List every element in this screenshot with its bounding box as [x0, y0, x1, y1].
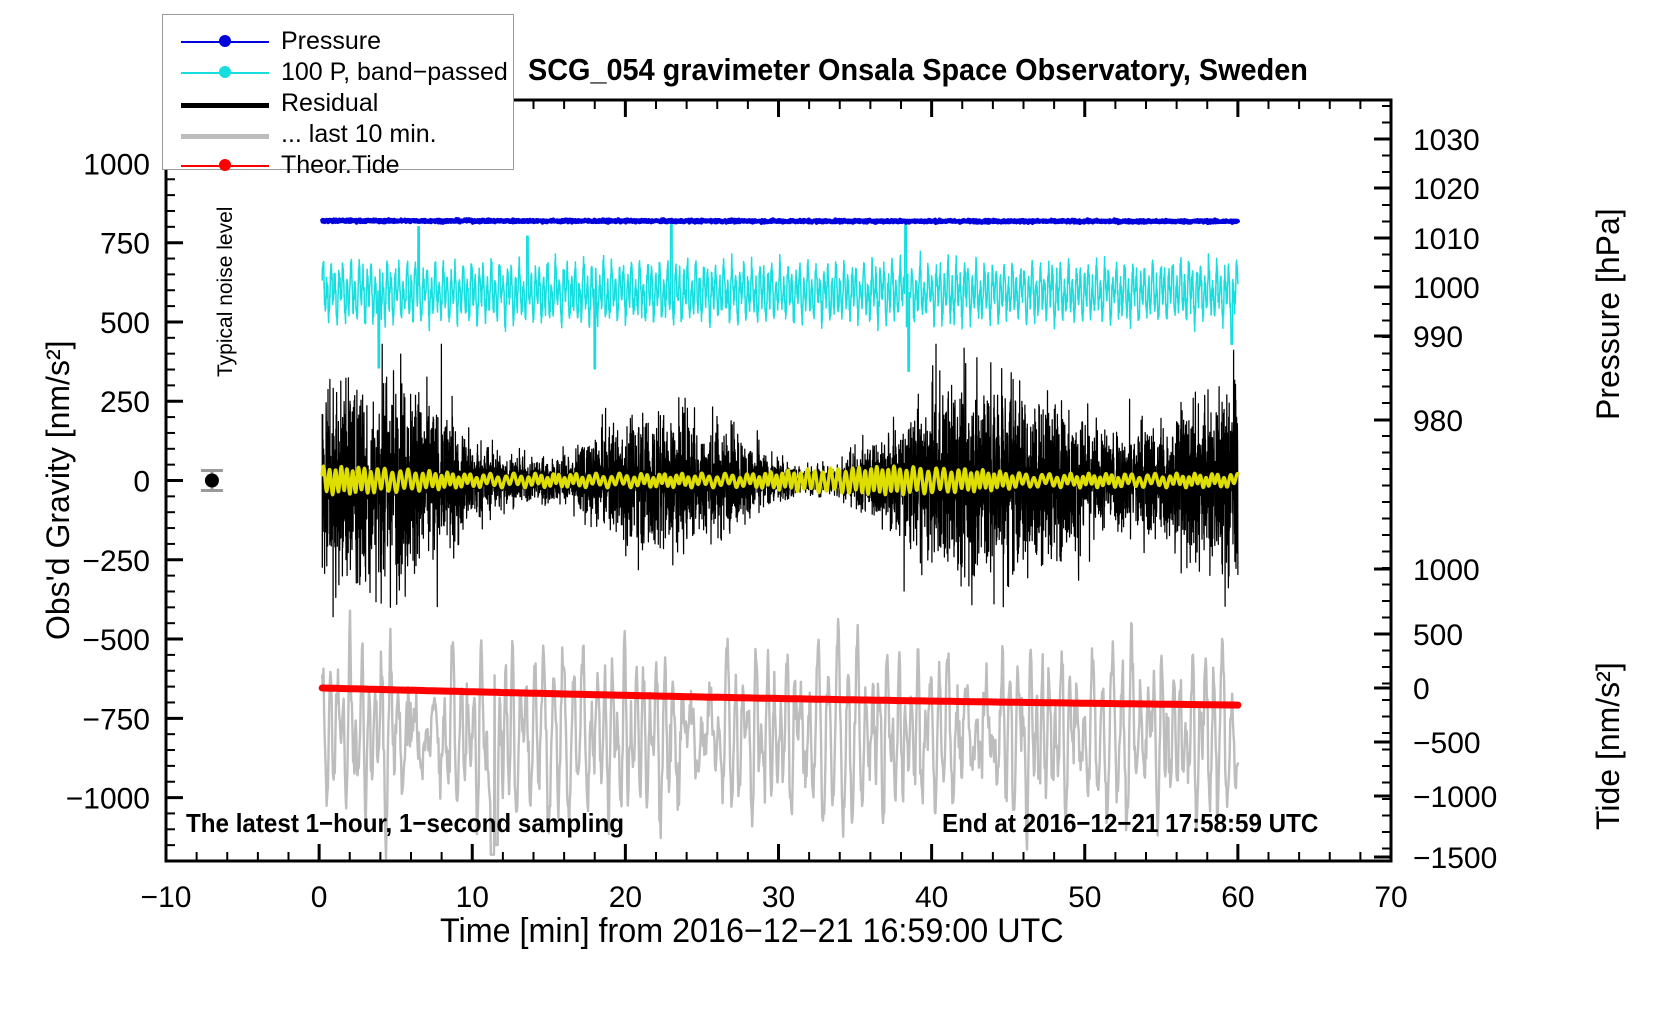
legend-label-last10: ... last 10 min. [281, 120, 437, 149]
x-tick-label: 20 [609, 881, 642, 914]
tide-tick-label: −500 [1413, 727, 1481, 760]
pressure-tick-label: 1020 [1413, 173, 1480, 206]
x-tick-label: 40 [915, 881, 948, 914]
x-tick-label: −10 [141, 881, 192, 914]
pressure-tick-label: 1000 [1413, 272, 1480, 305]
y-tick-label: 750 [100, 228, 150, 261]
tide-tick-label: 1000 [1413, 554, 1480, 587]
noise-level-label: Typical noise level [214, 207, 238, 377]
pressure-tick-label: 1010 [1413, 223, 1480, 256]
y-tick-label: −500 [82, 624, 150, 657]
pressure-tick-label: 980 [1413, 405, 1463, 438]
tide-tick-label: −1500 [1413, 842, 1497, 875]
y-axis-left-title: Obs'd Gravity [nm/s²] [40, 341, 77, 641]
chart-page: −1001020304050607010007505002500−250−500… [0, 0, 1660, 1020]
tide-tick-label: 500 [1413, 619, 1463, 652]
legend[interactable]: Pressure 100 P, band−passed Residual ...… [162, 14, 514, 170]
x-axis-title: Time [min] from 2016−12−21 16:59:00 UTC [440, 912, 1064, 951]
y-tick-label: −1000 [66, 783, 150, 816]
y-tick-label: 1000 [83, 148, 150, 181]
x-tick-label: 30 [762, 881, 795, 914]
pressure-tick-label: 1030 [1413, 124, 1480, 157]
y-axis-pressure-title: Pressure [hPa] [1590, 208, 1627, 420]
series-bandpassed-pressure [322, 222, 1238, 371]
x-tick-label: 10 [456, 881, 489, 914]
x-tick-label: 70 [1374, 881, 1407, 914]
note-sampling: The latest 1−hour, 1−second sampling [186, 808, 624, 839]
noise-level-marker [205, 474, 219, 488]
series-pressure [322, 219, 1238, 223]
page-title: SCG_054 gravimeter Onsala Space Observat… [528, 52, 1308, 88]
legend-label-pressure: Pressure [281, 27, 381, 56]
legend-label-residual: Residual [281, 89, 378, 118]
y-axis-tide-title: Tide [nm/s²] [1590, 662, 1627, 830]
legend-label-tide: Theor.Tide [281, 151, 400, 180]
legend-label-bandpassed: 100 P, band−passed [281, 58, 508, 87]
y-tick-label: −250 [82, 545, 150, 578]
tide-tick-label: −1000 [1413, 781, 1497, 814]
y-tick-label: 500 [100, 307, 150, 340]
tide-tick-label: 0 [1413, 673, 1430, 706]
y-tick-label: 250 [100, 386, 150, 419]
pressure-tick-label: 990 [1413, 321, 1463, 354]
y-tick-label: 0 [133, 466, 150, 499]
x-tick-label: 60 [1221, 881, 1254, 914]
y-tick-label: −750 [82, 703, 150, 736]
x-tick-label: 50 [1068, 881, 1101, 914]
x-tick-label: 0 [311, 881, 328, 914]
note-end-time: End at 2016−12−21 17:58:59 UTC [942, 808, 1318, 839]
